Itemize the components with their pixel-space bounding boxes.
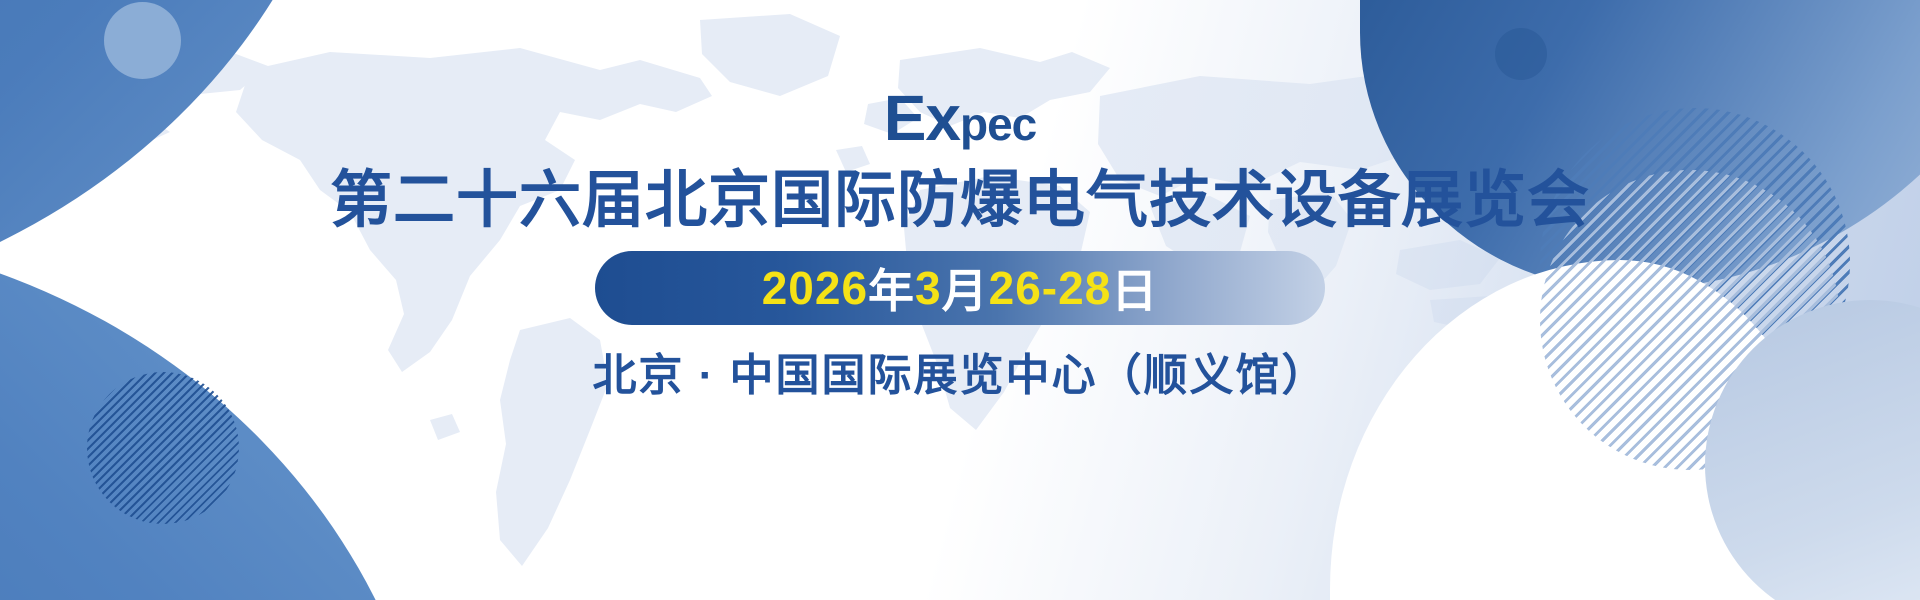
banner-content: Expec 第二十六届北京国际防爆电气技术设备展览会 2026年3月26-28日… xyxy=(0,0,1920,600)
date-month-number: 3 xyxy=(915,261,942,315)
logo-suffix: pec xyxy=(960,98,1036,150)
date-day-number: 26-28 xyxy=(989,261,1112,315)
date-year-number: 2026 xyxy=(762,261,868,315)
event-date-badge: 2026年3月26-28日 xyxy=(595,251,1325,325)
event-banner: Expec 第二十六届北京国际防爆电气技术设备展览会 2026年3月26-28日… xyxy=(0,0,1920,600)
venue-text: 北京 · 中国国际展览中心（顺义馆） xyxy=(592,339,1327,403)
date-month-label: 月 xyxy=(942,255,989,321)
page-title: 第二十六届北京国际防爆电气技术设备展览会 xyxy=(330,166,1590,235)
date-year-label: 年 xyxy=(868,255,915,321)
logo-prefix: Ex xyxy=(884,82,960,154)
date-day-label: 日 xyxy=(1111,255,1158,321)
event-logo: Expec xyxy=(884,86,1037,150)
